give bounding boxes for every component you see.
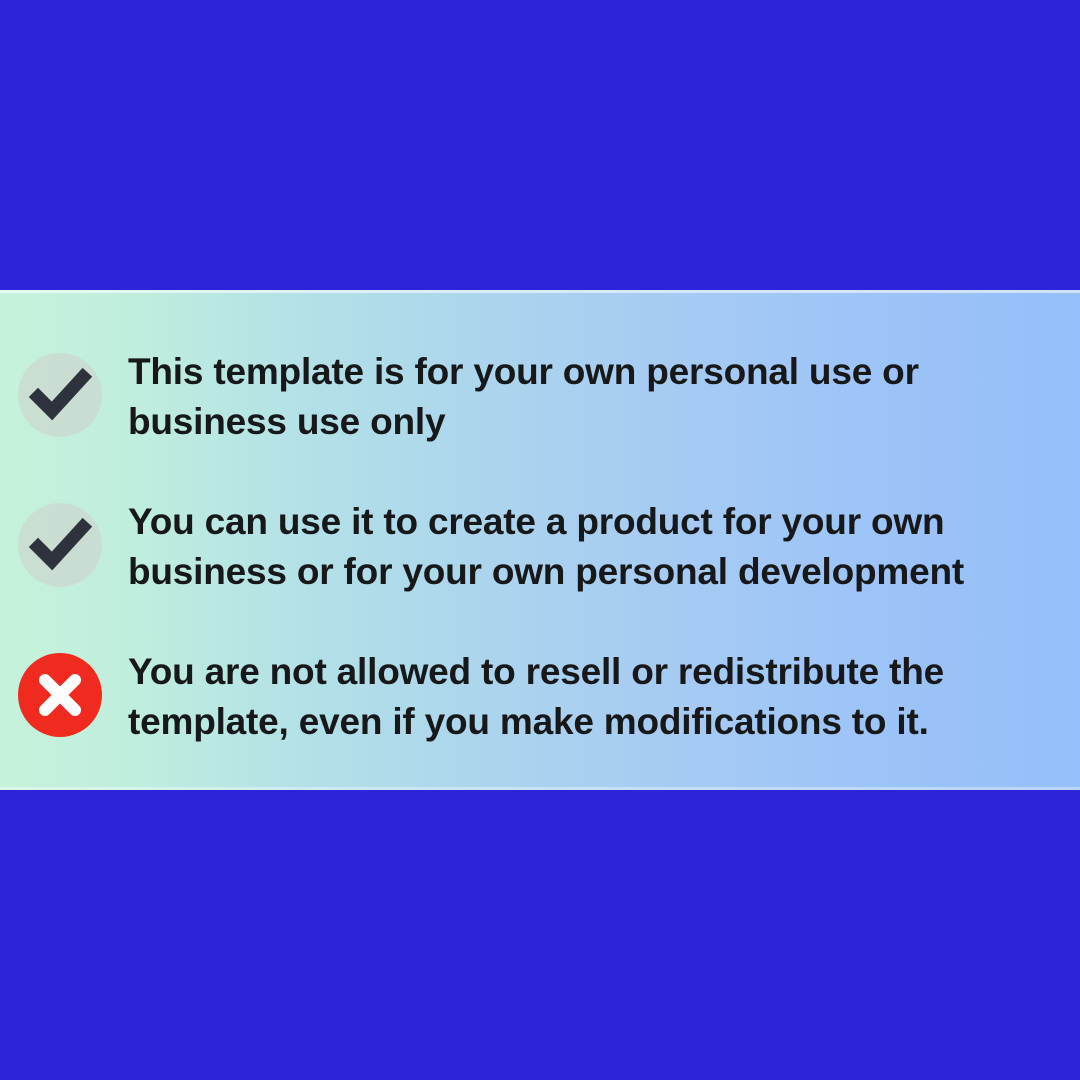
slide-canvas: This template is for your own personal u… bbox=[0, 0, 1080, 1080]
cross-icon-glyph bbox=[18, 653, 102, 737]
term-line-2: business use only bbox=[128, 397, 1063, 447]
term-text: You can use it to create a product for y… bbox=[128, 495, 1063, 597]
list-item: You can use it to create a product for y… bbox=[18, 495, 1063, 597]
check-icon-glyph bbox=[18, 503, 102, 587]
term-text: This template is for your own personal u… bbox=[128, 345, 1063, 447]
check-icon bbox=[18, 345, 102, 429]
term-line-1: You are not allowed to resell or redistr… bbox=[128, 647, 1063, 697]
term-text: You are not allowed to resell or redistr… bbox=[128, 645, 1063, 747]
term-line-2: template, even if you make modifications… bbox=[128, 697, 1063, 747]
terms-band: This template is for your own personal u… bbox=[0, 290, 1080, 790]
term-line-1: This template is for your own personal u… bbox=[128, 347, 1063, 397]
list-item: This template is for your own personal u… bbox=[18, 345, 1063, 447]
check-icon-glyph bbox=[18, 353, 102, 437]
terms-list: This template is for your own personal u… bbox=[0, 290, 1080, 790]
cross-icon bbox=[18, 645, 102, 729]
term-line-1: You can use it to create a product for y… bbox=[128, 497, 1063, 547]
list-item: You are not allowed to resell or redistr… bbox=[18, 645, 1063, 747]
check-icon bbox=[18, 495, 102, 579]
term-line-2: business or for your own personal develo… bbox=[128, 547, 1063, 597]
